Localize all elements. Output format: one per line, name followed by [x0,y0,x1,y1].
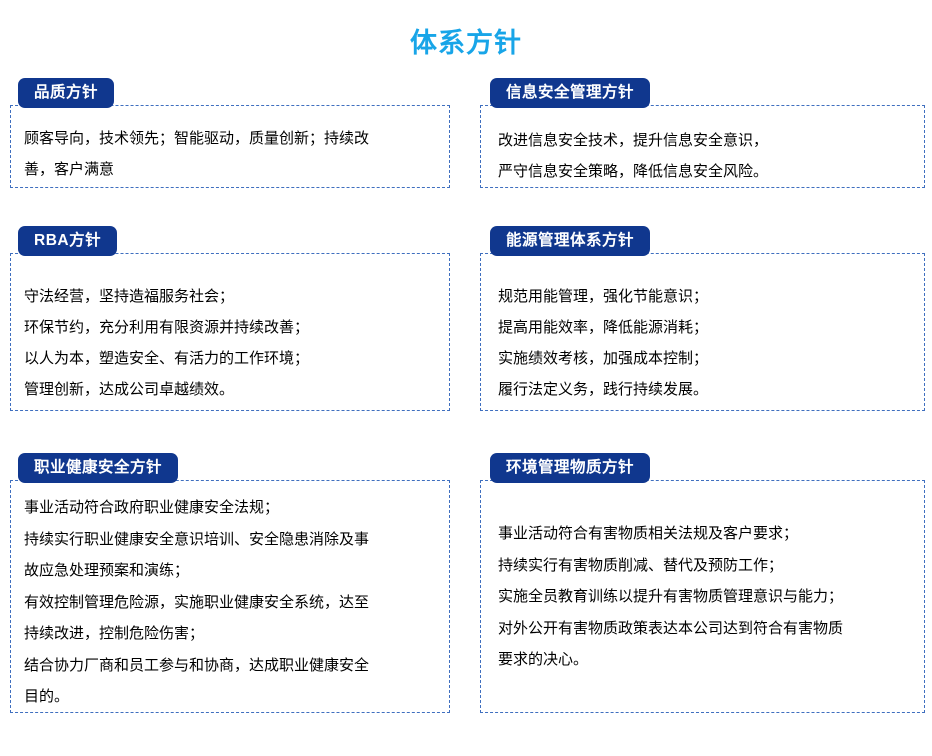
policy-body-text: 规范用能管理，强化节能意识； 提高用能效率，降低能源消耗； 实施绩效考核，加强成… [498,281,911,405]
policy-card-tab-energy-management-policy[interactable]: 能源管理体系方针 [490,226,650,256]
policy-body-text: 守法经营，坚持造福服务社会； 环保节约，充分利用有限资源并持续改善； 以人为本，… [24,281,436,405]
policy-body-text: 事业活动符合有害物质相关法规及客户要求； 持续实行有害物质削减、替代及预防工作；… [498,518,911,676]
policy-card-text-information-security-policy: 改进信息安全技术，提升信息安全意识， 严守信息安全策略，降低信息安全风险。 [480,105,925,197]
policy-card-information-security-policy: 改进信息安全技术，提升信息安全意识， 严守信息安全策略，降低信息安全风险。 信息… [480,78,925,188]
policy-card-environmental-substance-policy: 事业活动符合有害物质相关法规及客户要求； 持续实行有害物质削减、替代及预防工作；… [480,453,925,713]
policy-card-tab-information-security-policy[interactable]: 信息安全管理方针 [490,78,650,108]
policy-card-tab-quality-policy[interactable]: 品质方针 [18,78,114,108]
policy-card-text-occupational-health-safety-policy: 事业活动符合政府职业健康安全法规； 持续实行职业健康安全意识培训、安全隐患消除及… [10,480,450,723]
policy-card-text-rba-policy: 守法经营，坚持造福服务社会； 环保节约，充分利用有限资源并持续改善； 以人为本，… [10,253,450,415]
policy-card-text-quality-policy: 顾客导向，技术领先；智能驱动，质量创新；持续改 善，客户满意 [10,105,450,195]
policy-card-quality-policy: 顾客导向，技术领先；智能驱动，质量创新；持续改 善，客户满意 品质方针 [10,78,450,188]
policy-card-tab-rba-policy[interactable]: RBA方针 [18,226,117,256]
policy-card-tab-occupational-health-safety-policy[interactable]: 职业健康安全方针 [18,453,178,483]
policy-card-rba-policy: 守法经营，坚持造福服务社会； 环保节约，充分利用有限资源并持续改善； 以人为本，… [10,226,450,411]
policy-card-text-environmental-substance-policy: 事业活动符合有害物质相关法规及客户要求； 持续实行有害物质削减、替代及预防工作；… [480,480,925,686]
policy-card-tab-environmental-substance-policy[interactable]: 环境管理物质方针 [490,453,650,483]
policy-card-occupational-health-safety-policy: 事业活动符合政府职业健康安全法规； 持续实行职业健康安全意识培训、安全隐患消除及… [10,453,450,713]
policy-card-text-energy-management-policy: 规范用能管理，强化节能意识； 提高用能效率，降低能源消耗； 实施绩效考核，加强成… [480,253,925,415]
page-title: 体系方针 [0,26,932,60]
policy-body-text: 顾客导向，技术领先；智能驱动，质量创新；持续改 善，客户满意 [24,123,436,185]
policy-card-board: 顾客导向，技术领先；智能驱动，质量创新；持续改 善，客户满意 品质方针 改进信息… [0,78,932,748]
policy-body-text: 改进信息安全技术，提升信息安全意识， 严守信息安全策略，降低信息安全风险。 [498,125,911,187]
policy-body-text: 事业活动符合政府职业健康安全法规； 持续实行职业健康安全意识培训、安全隐患消除及… [24,492,436,713]
policy-card-energy-management-policy: 规范用能管理，强化节能意识； 提高用能效率，降低能源消耗； 实施绩效考核，加强成… [480,226,925,411]
